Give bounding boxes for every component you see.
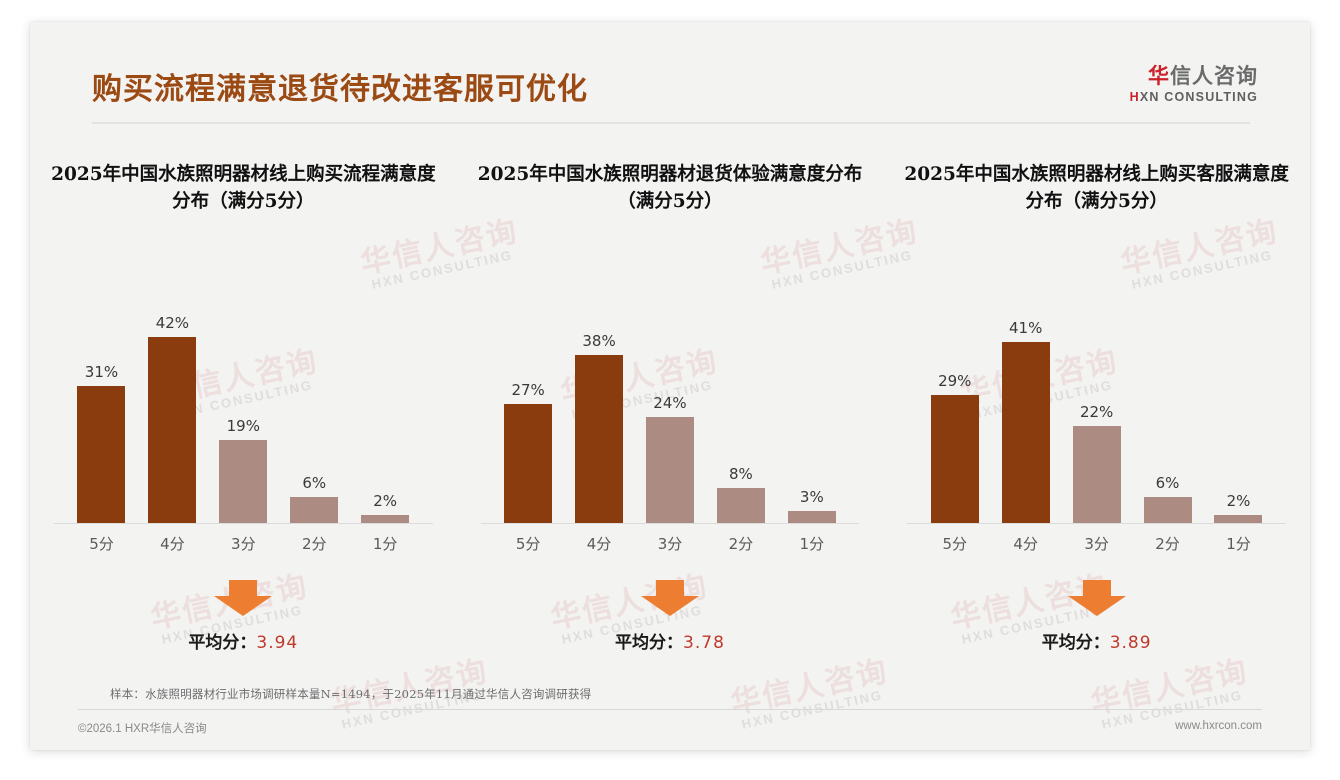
bar-value-label: 31% <box>85 363 118 381</box>
average-score-label: 平均分： <box>188 633 256 653</box>
page-title: 购买流程满意退货待改进客服可优化 <box>92 64 588 108</box>
bar-slot: 2% <box>1203 288 1274 524</box>
footer-divider <box>78 709 1262 710</box>
x-axis-line <box>481 523 860 524</box>
bar-value-label: 19% <box>227 417 260 435</box>
logo-h-char: H <box>1130 90 1140 104</box>
average-score-value: 3.78 <box>683 633 725 653</box>
chart-plot-area: 31%42%19%6%2%5分4分3分2分1分 <box>44 256 443 546</box>
company-logo: 华信人咨询 HXN CONSULTING <box>1130 64 1258 104</box>
charts-row: 2025年中国水族照明器材线上购买流程满意度分布（满分5分）31%42%19%6… <box>30 162 1310 653</box>
bar-value-label: 2% <box>1227 492 1251 510</box>
category-label: 4分 <box>990 533 1061 554</box>
source-footnote: 样本：水族照明器材行业市场调研样本量N=1494，于2025年11月通过华信人咨… <box>110 686 591 702</box>
bar-value-label: 42% <box>156 314 189 332</box>
bar-group: 31%42%19%6%2% <box>66 288 421 524</box>
category-label: 3分 <box>208 533 279 554</box>
category-label: 3分 <box>1061 533 1132 554</box>
category-label: 3分 <box>635 533 706 554</box>
bar-value-label: 22% <box>1080 403 1113 421</box>
x-axis-line <box>54 523 433 524</box>
header-divider <box>92 122 1250 124</box>
bar[interactable] <box>575 355 623 524</box>
logo-chinese-text: 华信人咨询 <box>1130 64 1258 88</box>
x-axis-line <box>907 523 1286 524</box>
bar-slot: 27% <box>493 288 564 524</box>
bar[interactable] <box>77 386 125 524</box>
bar-value-label: 29% <box>938 372 971 390</box>
bar[interactable] <box>646 417 694 524</box>
logo-hua-char: 华 <box>1148 64 1170 88</box>
bar[interactable] <box>1002 342 1050 524</box>
chart-title: 2025年中国水族照明器材退货体验满意度分布（满分5分） <box>471 162 870 218</box>
bar-slot: 19% <box>208 288 279 524</box>
bar-slot: 41% <box>990 288 1061 524</box>
bar-value-label: 8% <box>729 465 753 483</box>
average-score-block: 平均分：3.89 <box>897 580 1296 653</box>
bar-value-label: 2% <box>373 492 397 510</box>
bar-value-label: 6% <box>1156 474 1180 492</box>
watermark-cn-text: 华信人咨询 <box>1086 646 1252 722</box>
category-label: 4分 <box>564 533 635 554</box>
bar-slot: 6% <box>279 288 350 524</box>
bar-value-label: 3% <box>800 488 824 506</box>
category-label: 5分 <box>919 533 990 554</box>
bar-group: 29%41%22%6%2% <box>919 288 1274 524</box>
bar[interactable] <box>1073 426 1121 524</box>
arrow-down-icon <box>214 580 272 616</box>
category-labels: 5分4分3分2分1分 <box>919 533 1274 554</box>
average-score-label: 平均分： <box>1042 633 1110 653</box>
bar-slot: 38% <box>564 288 635 524</box>
bar-slot: 31% <box>66 288 137 524</box>
bar[interactable] <box>1144 497 1192 524</box>
watermark-cn-text: 华信人咨询 <box>326 646 492 722</box>
chart-panel-3: 2025年中国水族照明器材线上购买客服满意度分布（满分5分）29%41%22%6… <box>883 162 1310 653</box>
category-label: 4分 <box>137 533 208 554</box>
bar[interactable] <box>931 395 979 524</box>
bar[interactable] <box>788 511 836 524</box>
bar[interactable] <box>290 497 338 524</box>
category-label: 1分 <box>350 533 421 554</box>
chart-title: 2025年中国水族照明器材线上购买客服满意度分布（满分5分） <box>897 162 1296 218</box>
slide-footer: ©2026.1 HXR华信人咨询 www.hxrcon.com <box>78 720 1262 736</box>
average-score-text: 平均分：3.89 <box>1042 628 1152 653</box>
copyright-text: ©2026.1 HXR华信人咨询 <box>78 720 207 736</box>
bar[interactable] <box>504 404 552 524</box>
chart-title: 2025年中国水族照明器材线上购买流程满意度分布（满分5分） <box>44 162 443 218</box>
bar-slot: 42% <box>137 288 208 524</box>
bar-slot: 3% <box>776 288 847 524</box>
bar-value-label: 41% <box>1009 319 1042 337</box>
bar-slot: 6% <box>1132 288 1203 524</box>
category-labels: 5分4分3分2分1分 <box>66 533 421 554</box>
arrow-down-icon <box>641 580 699 616</box>
bar-slot: 22% <box>1061 288 1132 524</box>
chart-plot-area: 27%38%24%8%3%5分4分3分2分1分 <box>471 256 870 546</box>
bar-slot: 2% <box>350 288 421 524</box>
average-score-text: 平均分：3.94 <box>188 628 298 653</box>
average-score-label: 平均分： <box>615 633 683 653</box>
category-label: 2分 <box>705 533 776 554</box>
category-label: 5分 <box>493 533 564 554</box>
category-label: 1分 <box>1203 533 1274 554</box>
category-label: 5分 <box>66 533 137 554</box>
watermark-cn-text: 华信人咨询 <box>726 646 892 722</box>
average-score-value: 3.94 <box>256 633 298 653</box>
logo-en-rest: XN CONSULTING <box>1140 90 1258 104</box>
bar-value-label: 24% <box>653 394 686 412</box>
logo-cn-rest: 信人咨询 <box>1170 64 1258 88</box>
chart-plot-area: 29%41%22%6%2%5分4分3分2分1分 <box>897 256 1296 546</box>
bar-group: 27%38%24%8%3% <box>493 288 848 524</box>
logo-english-text: HXN CONSULTING <box>1130 90 1258 104</box>
bar-value-label: 6% <box>302 474 326 492</box>
bar-value-label: 27% <box>511 381 544 399</box>
bar-slot: 29% <box>919 288 990 524</box>
slide-header: 购买流程满意退货待改进客服可优化 华信人咨询 HXN CONSULTING <box>30 22 1310 122</box>
slide-canvas: 华信人咨询HXN CONSULTING华信人咨询HXN CONSULTING华信… <box>30 22 1310 750</box>
bar[interactable] <box>717 488 765 524</box>
chart-panel-1: 2025年中国水族照明器材线上购买流程满意度分布（满分5分）31%42%19%6… <box>30 162 457 653</box>
bar[interactable] <box>219 440 267 524</box>
bar-slot: 8% <box>705 288 776 524</box>
category-label: 2分 <box>1132 533 1203 554</box>
bar[interactable] <box>148 337 196 524</box>
chart-panel-2: 2025年中国水族照明器材退货体验满意度分布（满分5分）27%38%24%8%3… <box>457 162 884 653</box>
category-label: 1分 <box>776 533 847 554</box>
average-score-value: 3.89 <box>1110 633 1152 653</box>
average-score-block: 平均分：3.78 <box>471 580 870 653</box>
average-score-block: 平均分：3.94 <box>44 580 443 653</box>
bar-slot: 24% <box>635 288 706 524</box>
category-label: 2分 <box>279 533 350 554</box>
bar-value-label: 38% <box>582 332 615 350</box>
category-labels: 5分4分3分2分1分 <box>493 533 848 554</box>
arrow-down-icon <box>1068 580 1126 616</box>
average-score-text: 平均分：3.78 <box>615 628 725 653</box>
website-link[interactable]: www.hxrcon.com <box>1175 720 1262 736</box>
